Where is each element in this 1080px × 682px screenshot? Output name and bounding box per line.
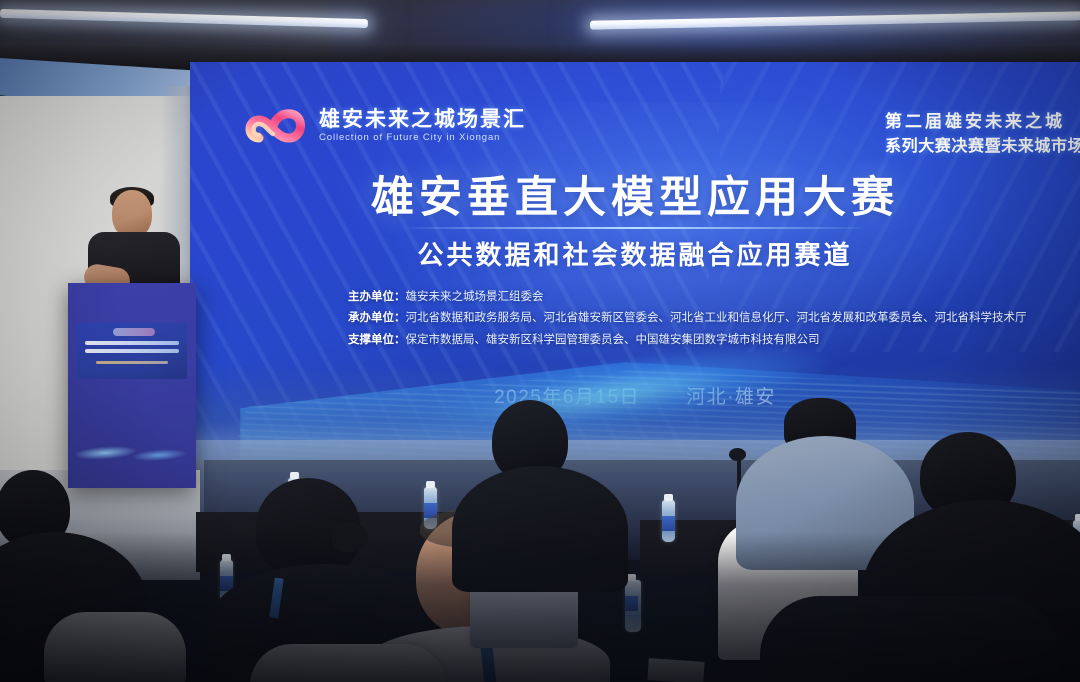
podium-panel-subline	[85, 349, 179, 353]
podium-front-panel	[77, 323, 187, 379]
foreground-shadow-gradient	[0, 532, 1080, 682]
podium	[68, 283, 196, 488]
logo-title-en: Collection of Future City in Xiongan	[319, 132, 526, 143]
logo-text: 雄安未来之城场景汇 Collection of Future City in X…	[319, 109, 526, 143]
organizer-line: 主办单位：雄安未来之城场景汇组委会	[348, 287, 1068, 308]
organizer-label: 承办单位：	[348, 312, 406, 324]
led-presentation-screen: 雄安未来之城场景汇 Collection of Future City in X…	[190, 62, 1080, 460]
title-divider-rule	[407, 227, 863, 229]
right-banner-strip: 第二届雄安未来之城 系列大赛决赛暨未来城市场	[885, 110, 1080, 158]
speaker-head	[112, 190, 152, 238]
subtitle: 公共数据和社会数据融合应用赛道	[190, 235, 1080, 272]
organizer-value: 雄安未来之城场景汇组委会	[406, 291, 544, 303]
organizer-label: 主办单位：	[348, 291, 406, 303]
bottle-label	[662, 516, 675, 531]
podium-panel-tagline	[96, 361, 168, 364]
ribbon-infinity-logo-icon	[245, 104, 309, 148]
organizer-label: 支撑单位：	[348, 334, 406, 346]
podium-panel-headline	[85, 341, 179, 345]
right-banner-line-2: 系列大赛决赛暨未来城市场	[885, 135, 1080, 158]
logo-title-cn: 雄安未来之城场景汇	[319, 109, 526, 131]
speaker-at-podium	[86, 190, 182, 290]
podium-panel-logo-mark	[113, 328, 155, 336]
right-banner-line-1: 第二届雄安未来之城	[885, 110, 1080, 135]
event-logo-lockup: 雄安未来之城场景汇 Collection of Future City in X…	[245, 104, 526, 148]
conference-photo-scene: 雄安未来之城场景汇 Collection of Future City in X…	[0, 0, 1080, 682]
bottle-cap	[664, 494, 673, 501]
main-title: 雄安垂直大模型应用大赛	[190, 174, 1080, 222]
title-block: 雄安垂直大模型应用大赛 公共数据和社会数据融合应用赛道	[190, 174, 1080, 272]
